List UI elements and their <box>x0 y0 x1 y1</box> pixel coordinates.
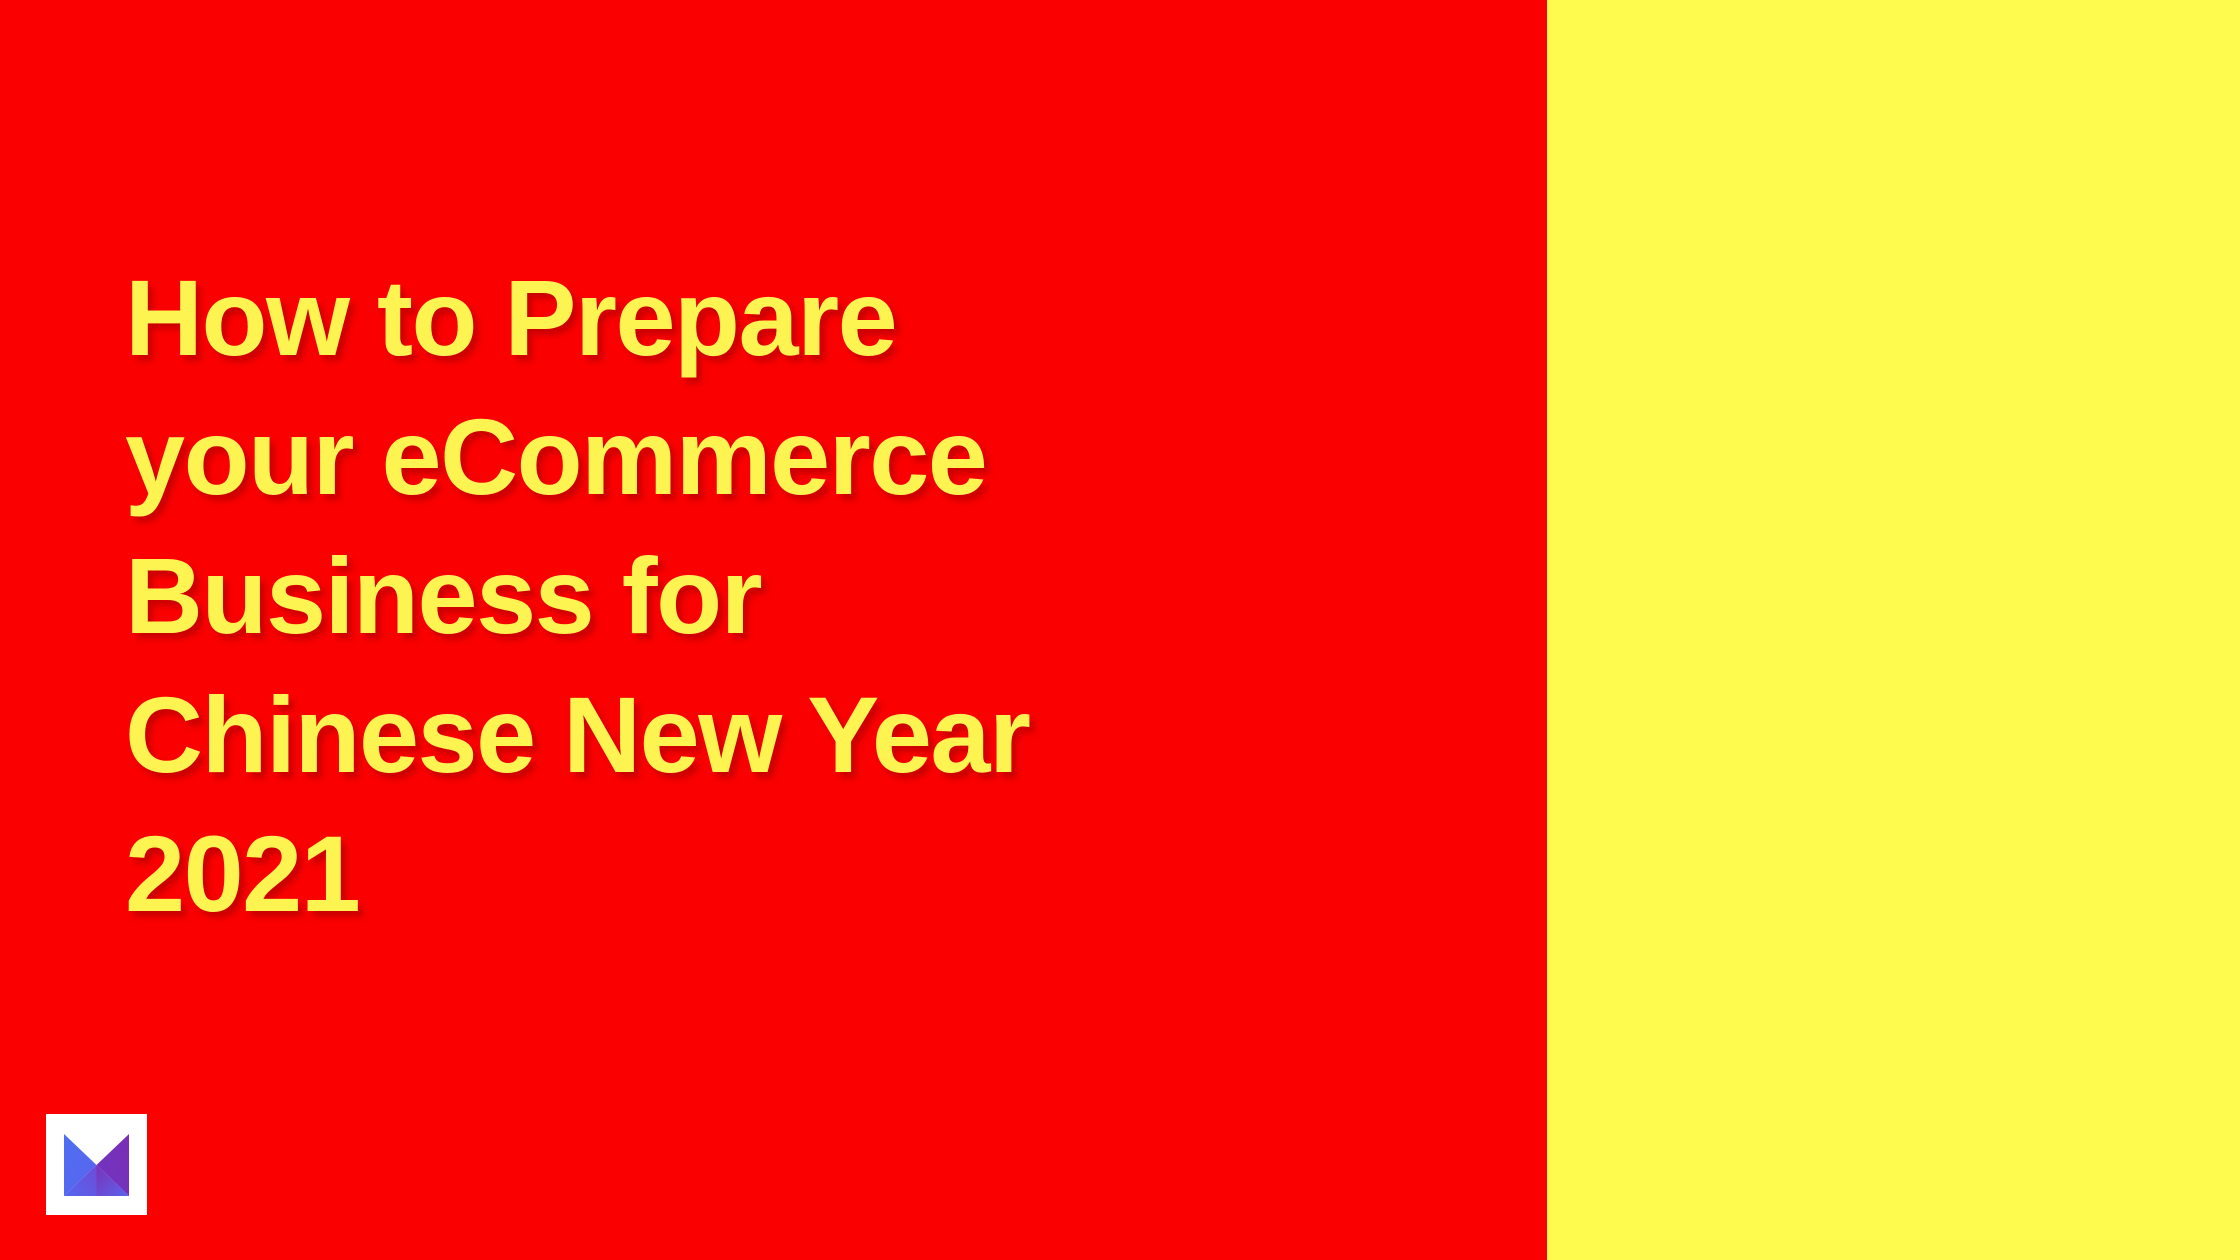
page-title: How to Prepare your eCommerce Business f… <box>125 248 1445 943</box>
slide-canvas: How to Prepare your eCommerce Business f… <box>0 0 2240 1260</box>
title-line-4: Chinese New Year <box>125 665 1445 804</box>
right-yellow-panel <box>1547 0 2240 1260</box>
title-line-3: Business for <box>125 526 1445 665</box>
title-line-2: your eCommerce <box>125 387 1445 526</box>
m-monogram-logo-icon <box>64 1134 129 1196</box>
title-line-5: 2021 <box>125 804 1445 943</box>
title-line-1: How to Prepare <box>125 248 1445 387</box>
brand-logo <box>46 1114 147 1215</box>
